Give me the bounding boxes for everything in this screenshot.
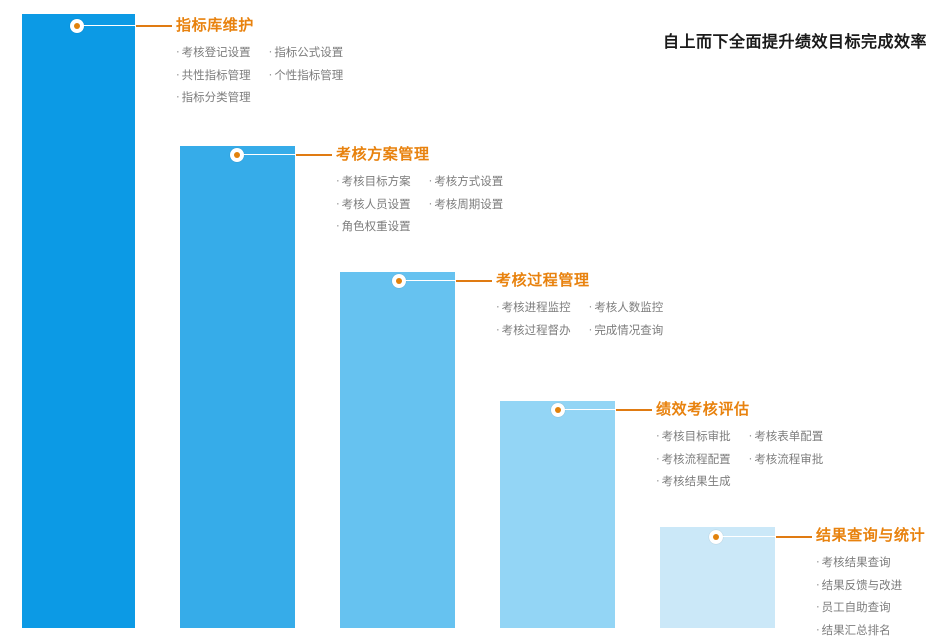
list-item[interactable]: 个性指标管理 [269, 67, 344, 84]
list-item[interactable]: 考核目标审批 [656, 428, 731, 445]
diagram-canvas: 自上而下全面提升绩效目标完成效率 指标库维护考核登记设置共性指标管理指标分类管理… [0, 0, 945, 643]
list-item[interactable]: 角色权重设置 [336, 218, 411, 235]
stage-sublist-5: 考核结果查询结果反馈与改进员工自助查询结果汇总排名 [816, 554, 925, 639]
list-item[interactable]: 员工自助查询 [816, 599, 902, 616]
stage-bar-3[interactable] [340, 272, 455, 628]
stage-bar-1[interactable] [22, 14, 135, 628]
list-item[interactable]: 考核流程配置 [656, 451, 731, 468]
list-item[interactable]: 结果汇总排名 [816, 622, 902, 639]
leader-line-outer-4 [616, 409, 652, 411]
page-title: 自上而下全面提升绩效目标完成效率 [663, 28, 927, 52]
list-item[interactable]: 考核进程监控 [496, 299, 571, 316]
list-item[interactable]: 考核目标方案 [336, 173, 411, 190]
leader-line-outer-2 [296, 154, 332, 156]
stage-sublist-2: 考核目标方案考核人员设置角色权重设置考核方式设置考核周期设置 [336, 173, 503, 235]
list-item[interactable]: 共性指标管理 [176, 67, 251, 84]
leader-line-outer-1 [136, 25, 172, 27]
list-item[interactable]: 考核人数监控 [589, 299, 664, 316]
list-item[interactable]: 指标分类管理 [176, 89, 251, 106]
stage-title-1[interactable]: 指标库维护 [176, 14, 343, 35]
stage-title-3[interactable]: 考核过程管理 [496, 269, 663, 290]
stage-title-5[interactable]: 结果查询与统计 [816, 524, 925, 545]
stage-label-block-5: 结果查询与统计考核结果查询结果反馈与改进员工自助查询结果汇总排名 [816, 524, 925, 639]
list-item[interactable]: 考核流程审批 [749, 451, 824, 468]
stage-title-2[interactable]: 考核方案管理 [336, 143, 503, 164]
list-item[interactable]: 考核结果生成 [656, 473, 731, 490]
list-item[interactable]: 考核周期设置 [429, 196, 504, 213]
list-item[interactable]: 完成情况查询 [589, 322, 664, 339]
stage-title-4[interactable]: 绩效考核评估 [656, 398, 823, 419]
list-item[interactable]: 考核方式设置 [429, 173, 504, 190]
list-item[interactable]: 考核表单配置 [749, 428, 824, 445]
stage-bar-5[interactable] [660, 527, 775, 628]
stage-sublist-4: 考核目标审批考核流程配置考核结果生成考核表单配置考核流程审批 [656, 428, 823, 490]
stage-label-block-3: 考核过程管理考核进程监控考核过程督办考核人数监控完成情况查询 [496, 269, 663, 338]
list-item[interactable]: 考核过程督办 [496, 322, 571, 339]
list-item[interactable]: 考核结果查询 [816, 554, 902, 571]
list-item[interactable]: 指标公式设置 [269, 44, 344, 61]
leader-line-outer-5 [776, 536, 812, 538]
list-item[interactable]: 结果反馈与改进 [816, 577, 902, 594]
stage-bar-2[interactable] [180, 146, 295, 628]
stage-sublist-1: 考核登记设置共性指标管理指标分类管理指标公式设置个性指标管理 [176, 44, 343, 106]
stage-label-block-2: 考核方案管理考核目标方案考核人员设置角色权重设置考核方式设置考核周期设置 [336, 143, 503, 235]
stage-label-block-4: 绩效考核评估考核目标审批考核流程配置考核结果生成考核表单配置考核流程审批 [656, 398, 823, 490]
list-item[interactable]: 考核登记设置 [176, 44, 251, 61]
leader-line-outer-3 [456, 280, 492, 282]
list-item[interactable]: 考核人员设置 [336, 196, 411, 213]
stage-sublist-3: 考核进程监控考核过程督办考核人数监控完成情况查询 [496, 299, 663, 338]
stage-bar-4[interactable] [500, 401, 615, 628]
stage-label-block-1: 指标库维护考核登记设置共性指标管理指标分类管理指标公式设置个性指标管理 [176, 14, 343, 106]
